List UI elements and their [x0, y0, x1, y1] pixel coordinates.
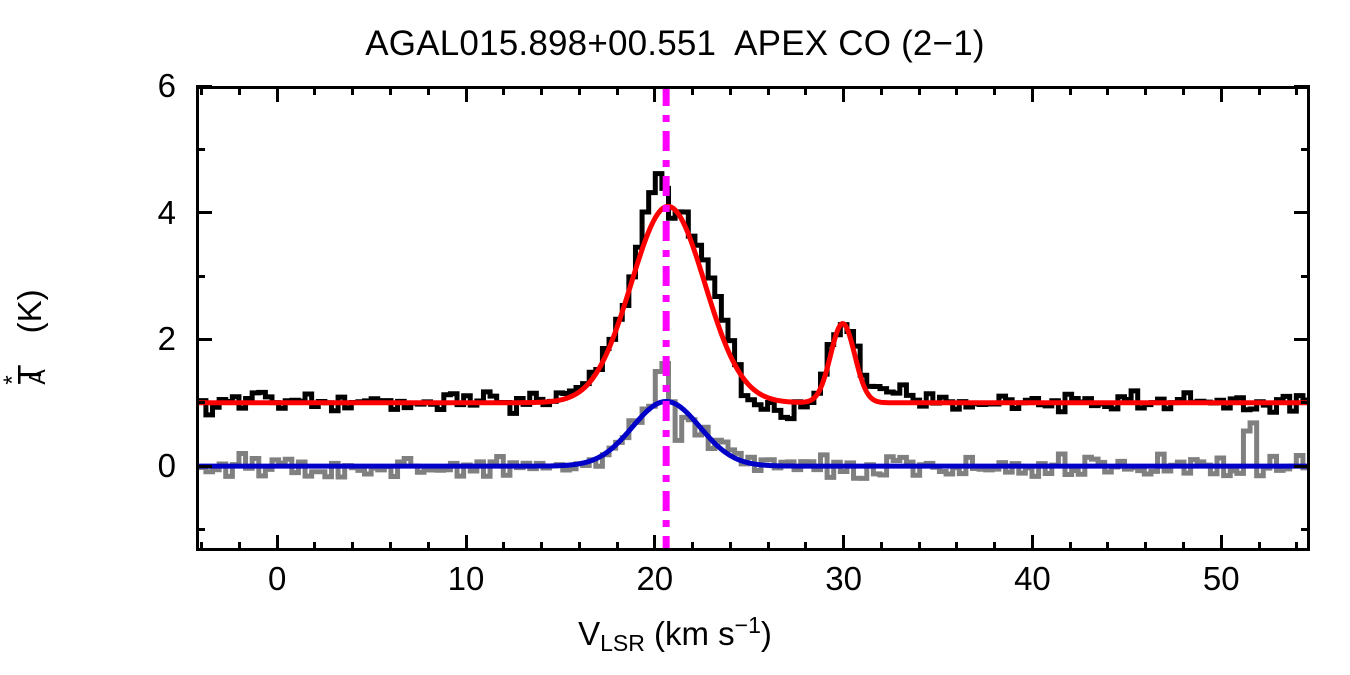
y-axis-label-unit: (K) — [11, 289, 48, 342]
axis-tick — [1295, 542, 1298, 551]
axis-tick — [1301, 275, 1310, 278]
x-tick-label: 50 — [1203, 560, 1240, 598]
axis-tick — [1182, 542, 1185, 551]
axis-tick — [196, 401, 205, 404]
axis-tick — [465, 535, 468, 551]
axis-tick — [1182, 86, 1185, 95]
axis-tick — [502, 86, 505, 95]
axis-tick — [196, 211, 212, 214]
x-axis-label-unit-exponent: −1 — [735, 612, 761, 638]
x-tick-label: 10 — [448, 560, 485, 598]
axis-tick — [993, 542, 996, 551]
axis-tick — [1106, 542, 1109, 551]
axis-tick — [691, 86, 694, 95]
axis-tick — [804, 86, 807, 95]
axis-tick — [540, 542, 543, 551]
axis-tick — [616, 542, 619, 551]
axis-tick — [427, 542, 430, 551]
x-tick-label: 0 — [268, 560, 286, 598]
axis-tick — [313, 542, 316, 551]
axis-tick — [313, 86, 316, 95]
axis-tick — [1294, 465, 1310, 468]
axis-tick — [1301, 401, 1310, 404]
axis-tick — [1144, 86, 1147, 95]
axis-tick — [276, 535, 279, 551]
spectrum-figure: AGAL015.898+00.551 APEX CO (2−1) 0102030… — [0, 0, 1350, 675]
axis-tick — [1031, 86, 1034, 102]
axis-tick — [196, 148, 205, 151]
x-axis-label-unit-close: ) — [761, 615, 772, 652]
axis-tick — [1258, 86, 1261, 95]
axis-tick — [238, 86, 241, 95]
axis-tick — [918, 542, 921, 551]
y-axis-label-sub: A — [24, 369, 51, 384]
x-axis-label-sub: LSR — [600, 630, 645, 656]
axis-tick — [502, 542, 505, 551]
axis-tick — [691, 542, 694, 551]
axis-tick — [578, 542, 581, 551]
axis-tick — [196, 465, 212, 468]
x-tick-label: 40 — [1014, 560, 1051, 598]
axis-tick — [1294, 211, 1310, 214]
page-title: AGAL015.898+00.551 APEX CO (2−1) — [0, 24, 1350, 64]
axis-tick — [427, 86, 430, 95]
axis-tick — [1220, 86, 1223, 102]
axis-tick — [993, 86, 996, 95]
axis-tick — [389, 86, 392, 95]
axis-tick — [955, 542, 958, 551]
axis-tick — [616, 86, 619, 95]
axis-tick — [351, 86, 354, 95]
axis-frame — [196, 86, 1310, 551]
axis-tick — [1294, 338, 1310, 341]
axis-tick — [196, 528, 205, 531]
axis-tick — [1294, 85, 1310, 88]
axis-tick — [1301, 148, 1310, 151]
axis-tick — [1258, 542, 1261, 551]
x-tick-label: 20 — [636, 560, 673, 598]
x-axis-label-unit-open: (km s — [645, 615, 735, 652]
plot-axes — [196, 86, 1310, 551]
axis-tick — [1106, 86, 1109, 95]
axis-tick — [729, 86, 732, 95]
x-axis-label: VLSR (km s−1) — [0, 612, 1350, 657]
axis-tick — [196, 275, 205, 278]
x-axis-label-main: V — [578, 615, 600, 652]
axis-tick — [767, 542, 770, 551]
axis-tick — [955, 86, 958, 95]
axis-tick — [804, 542, 807, 551]
axis-tick — [1031, 535, 1034, 551]
axis-tick — [653, 535, 656, 551]
axis-tick — [918, 86, 921, 95]
axis-tick — [238, 542, 241, 551]
y-axis-label-sup: * — [0, 375, 27, 384]
axis-tick — [1301, 528, 1310, 531]
axis-tick — [1144, 542, 1147, 551]
axis-tick — [880, 542, 883, 551]
y-tick-label: 6 — [6, 67, 176, 105]
axis-tick — [196, 85, 212, 88]
axis-tick — [351, 542, 354, 551]
axis-tick — [196, 338, 212, 341]
axis-tick — [842, 86, 845, 102]
axis-tick — [465, 86, 468, 102]
axis-tick — [1069, 542, 1072, 551]
axis-tick — [880, 86, 883, 95]
axis-tick — [767, 86, 770, 95]
axis-tick — [1220, 535, 1223, 551]
y-axis-label: T*A (K) — [11, 167, 49, 507]
axis-tick — [842, 535, 845, 551]
axis-tick — [276, 86, 279, 102]
axis-tick — [1069, 86, 1072, 95]
axis-tick — [389, 542, 392, 551]
axis-tick — [578, 86, 581, 95]
axis-tick — [729, 542, 732, 551]
axis-tick — [200, 542, 203, 551]
axis-tick — [653, 86, 656, 102]
axis-tick — [540, 86, 543, 95]
x-tick-label: 30 — [825, 560, 862, 598]
